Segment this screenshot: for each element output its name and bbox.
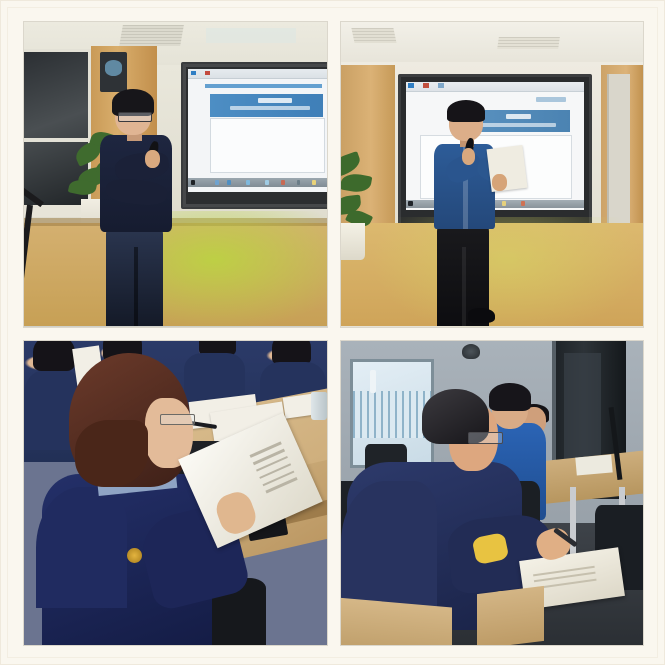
photo-bottom-right[interactable]	[341, 341, 644, 646]
desk-leg	[570, 487, 576, 560]
colleague-hair-front	[489, 383, 531, 410]
uniform-button	[127, 548, 142, 563]
photo-collage-frame	[0, 0, 665, 665]
taskbar-start-icon	[191, 180, 195, 185]
window-button	[205, 71, 210, 75]
taskbar-icon	[502, 201, 506, 206]
speaker-cone	[105, 60, 122, 76]
taskbar-icon	[297, 180, 301, 185]
door-inner-panel	[564, 353, 600, 469]
window-button	[191, 71, 196, 75]
person-hand-left	[462, 148, 476, 165]
taskbar-icon	[246, 180, 250, 185]
projection-screen	[181, 62, 326, 209]
slide-subtitle-text	[230, 106, 309, 110]
woman-hair-lock	[75, 420, 148, 487]
person-leg-seam	[134, 247, 138, 326]
taskbar	[188, 178, 326, 187]
water-bottle	[311, 392, 326, 419]
slide-banner	[210, 94, 323, 117]
man-glasses	[468, 432, 503, 444]
slide-body	[210, 118, 325, 173]
taskbar-icon-active	[312, 180, 316, 185]
photo-top-right[interactable]	[341, 22, 644, 327]
taskbar-icon	[521, 201, 525, 206]
taskbar-start-icon	[408, 201, 412, 206]
ceiling-vent	[119, 25, 183, 46]
slide-title-text	[258, 98, 292, 103]
person-glasses	[118, 112, 152, 122]
window-button	[423, 83, 429, 88]
person-hand	[145, 150, 160, 168]
woman-glasses	[160, 414, 195, 426]
man-shoulder	[341, 481, 438, 615]
slide-logo	[536, 97, 566, 102]
photo-grid	[24, 22, 643, 645]
ceiling-dome-camera	[462, 344, 480, 359]
outdoor-cylinder	[370, 370, 376, 393]
window-mullion	[24, 138, 88, 142]
taskbar-icon	[265, 180, 269, 185]
scene-presenter-with-microphone	[24, 22, 327, 327]
attendee-hair	[33, 341, 75, 371]
paper-sheet	[576, 455, 614, 476]
ceiling-vent	[497, 37, 559, 49]
window-button	[438, 83, 444, 88]
slide-title-text	[506, 114, 532, 119]
scene-man-writing-notes	[341, 341, 644, 646]
person-shoe	[468, 308, 495, 323]
photo-top-left[interactable]	[24, 22, 327, 327]
woman-shoulder	[36, 487, 127, 609]
scene-woman-reading-document	[24, 341, 327, 646]
door-frame	[607, 74, 630, 232]
window-bars	[353, 391, 432, 439]
person-hand-right	[492, 174, 507, 191]
taskbar-icon	[227, 180, 231, 185]
wall-speaker	[100, 52, 127, 92]
desk-front-edge	[477, 586, 544, 645]
plant-pot	[341, 223, 365, 260]
photo-bottom-left[interactable]	[24, 341, 327, 646]
window-titlebar	[406, 82, 584, 92]
ceiling-panel	[206, 28, 297, 43]
taskbar-icon	[281, 180, 285, 185]
floor-light-reflection	[371, 217, 643, 327]
taskbar-icon	[215, 180, 219, 185]
person-hair	[447, 100, 485, 123]
person-leg-seam	[462, 247, 466, 326]
ceiling-vent	[351, 28, 397, 43]
scene-presenter-with-paper	[341, 22, 644, 327]
toolbar-ribbon	[205, 84, 321, 88]
window-button	[408, 83, 414, 88]
